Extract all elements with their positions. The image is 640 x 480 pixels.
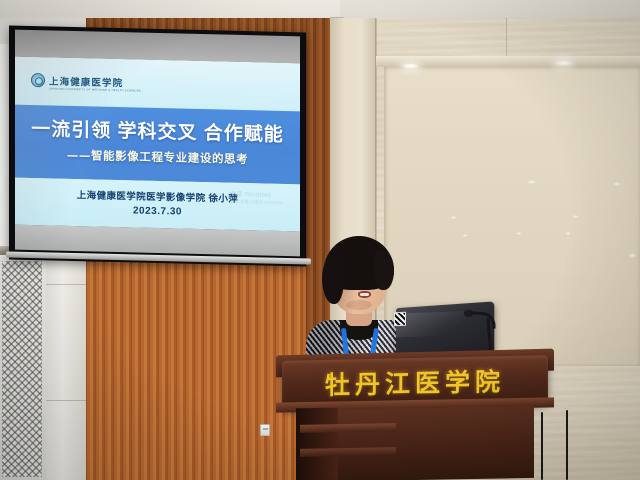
pillar-seam [46,400,88,401]
slide-title-band: 一流引领 学科交叉 合作赋能 ——智能影像工程专业建设的思考 [15,105,300,185]
slide-subtitle: ——智能影像工程专业建设的思考 [15,146,300,169]
watermark-line-1: 激活 Windows [230,189,286,199]
presentation-slide: 上海健康医学院 SHANGHAI UNIVERSITY OF MEDICINE … [15,57,300,232]
podium-cable [541,412,543,480]
logo-english-name: SHANGHAI UNIVERSITY OF MEDICINE & HEALTH… [49,87,141,92]
windows-activation-watermark: 激活 Windows 转到"设置"以激活 Windows。 [230,189,286,206]
wall-light-reflection [516,232,522,235]
wall-outlet [260,424,270,436]
podium-base-side [296,408,338,480]
university-seal-icon [31,73,45,87]
screen-blank-area-bottom [15,225,300,257]
watermark-line-2: 转到"设置"以激活 Windows。 [230,199,286,206]
slide-header-band: 上海健康医学院 SHANGHAI UNIVERSITY OF MEDICINE … [15,57,300,112]
podium-base-trim-upper [300,423,396,433]
presenter-hair-right [374,250,394,290]
photo-scene: 上海健康医学院 SHANGHAI UNIVERSITY OF MEDICINE … [0,0,640,480]
podium-cable [566,410,568,480]
laptop-sticker [394,312,406,326]
slide-main-title: 一流引领 学科交叉 合作赋能 [15,114,300,148]
university-logo: 上海健康医学院 [31,73,123,89]
slide-footer-band: 上海健康医学院医学影像学院 徐小萍 2023.7.30 激活 Windows 转… [15,178,300,232]
wall-light-reflection [527,180,536,184]
wall-light-reflection [565,232,571,235]
ceiling-spotlight [402,63,419,69]
ceiling-spotlight [555,60,572,66]
wall-light-reflection [462,234,468,237]
presenter-chin-shadow [346,300,372,310]
radiator-grille [2,261,42,477]
presenter-hair-left [322,254,344,304]
wall-light-reflection [613,182,621,186]
wall-light-reflection [450,216,457,219]
wall-light-reflection [572,215,579,218]
pillar-seam [46,284,88,285]
radiator-cover [0,255,46,480]
projection-screen: 上海健康医学院 SHANGHAI UNIVERSITY OF MEDICINE … [9,26,306,267]
wall-light-reflection [628,253,637,258]
podium-base-trim-lower [300,447,396,457]
presenter-teeth [360,293,369,296]
